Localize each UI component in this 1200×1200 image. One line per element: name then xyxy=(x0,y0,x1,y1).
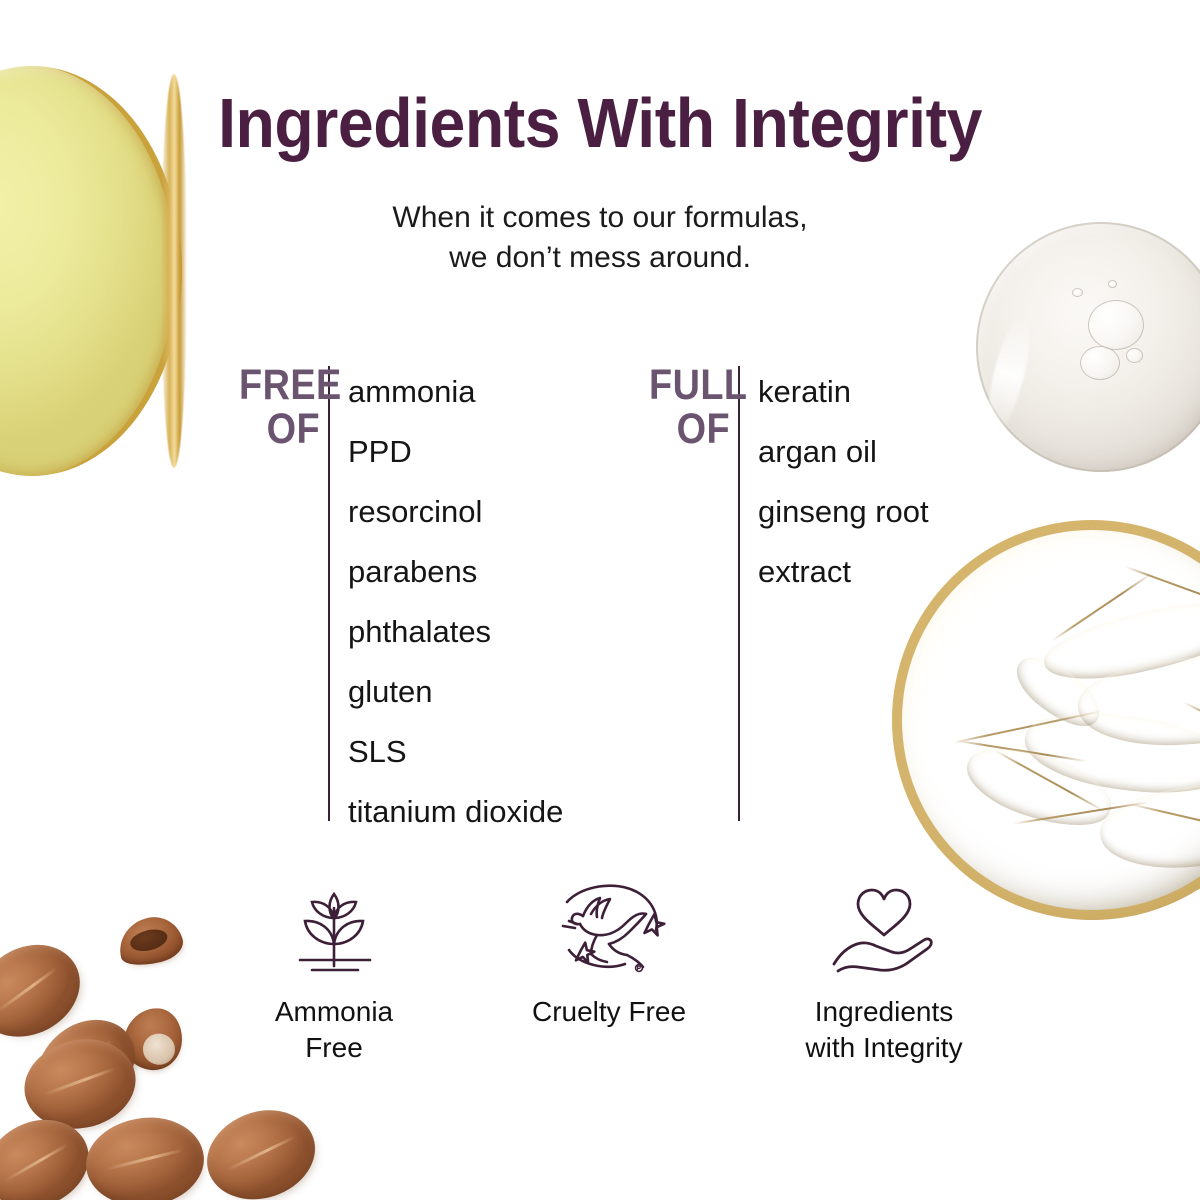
serum-bubble xyxy=(1108,280,1117,288)
ginseng-root-bowl-photo xyxy=(892,520,1200,920)
list-item: SLS xyxy=(348,722,563,782)
badge-label-line-1: Cruelty Free xyxy=(532,994,686,1030)
free-of-label-line-1: FREE xyxy=(239,364,320,408)
serum-bubble xyxy=(1088,300,1144,350)
full-of-label-line-2: OF xyxy=(649,408,730,452)
list-item: resorcinol xyxy=(348,482,563,542)
free-of-label-line-2: OF xyxy=(239,408,320,452)
free-of-column: FREE OF ammonia PPD resorcinol parabens … xyxy=(228,362,563,842)
leaping-bunny-icon xyxy=(543,876,675,980)
certification-badges: Ammonia Free xyxy=(214,876,1004,1066)
ginseng-rootlet xyxy=(1125,566,1200,608)
list-item: argan oil xyxy=(758,422,929,482)
list-item: gluten xyxy=(348,662,563,722)
argan-nut-photo xyxy=(82,1112,209,1200)
badge-ingredients-with-integrity: Ingredients with Integrity xyxy=(764,876,1004,1066)
badge-label: Ammonia Free xyxy=(275,994,393,1066)
serum-bubble xyxy=(1072,288,1083,297)
list-item: extract xyxy=(758,542,929,602)
badge-label-line-2: Free xyxy=(275,1030,393,1066)
free-of-label: FREE OF xyxy=(239,362,320,452)
badge-ammonia-free: Ammonia Free xyxy=(214,876,454,1066)
argan-shell-fragment-photo xyxy=(113,911,186,971)
list-item: PPD xyxy=(348,422,563,482)
free-of-list: ammonia PPD resorcinol parabens phthalat… xyxy=(348,362,563,842)
badge-label: Ingredients with Integrity xyxy=(805,994,962,1066)
full-of-label-line-1: FULL xyxy=(649,364,730,408)
list-item: keratin xyxy=(758,362,929,422)
dish-highlight xyxy=(980,312,1038,436)
full-of-divider xyxy=(738,366,740,821)
serum-bubble xyxy=(1080,346,1120,380)
list-item: phthalates xyxy=(348,602,563,662)
full-of-column: FULL OF keratin argan oil ginseng root e… xyxy=(638,362,929,821)
list-item: titanium dioxide xyxy=(348,782,563,842)
page-subtitle: When it comes to our formulas, we don’t … xyxy=(0,198,1200,277)
badge-label-line-2: with Integrity xyxy=(805,1030,962,1066)
full-of-list: keratin argan oil ginseng root extract xyxy=(758,362,929,602)
free-of-divider xyxy=(328,366,330,821)
badge-cruelty-free: Cruelty Free xyxy=(489,876,729,1066)
full-of-label: FULL OF xyxy=(649,362,730,452)
hand-holding-heart-icon xyxy=(818,876,950,980)
list-item: parabens xyxy=(348,542,563,602)
list-item: ammonia xyxy=(348,362,563,422)
badge-label: Cruelty Free xyxy=(532,994,686,1030)
sprout-plant-icon xyxy=(282,876,386,980)
badge-label-line-1: Ingredients xyxy=(805,994,962,1030)
list-item: ginseng root xyxy=(758,482,929,542)
ingredients-infographic: Ingredients With Integrity When it comes… xyxy=(0,0,1200,1200)
serum-bubble xyxy=(1126,348,1143,363)
argan-nut-photo xyxy=(195,1097,326,1200)
subtitle-line-1: When it comes to our formulas, xyxy=(0,198,1200,238)
badge-label-line-1: Ammonia xyxy=(275,994,393,1030)
page-title: Ingredients With Integrity xyxy=(48,88,1152,158)
subtitle-line-2: we don’t mess around. xyxy=(0,238,1200,278)
